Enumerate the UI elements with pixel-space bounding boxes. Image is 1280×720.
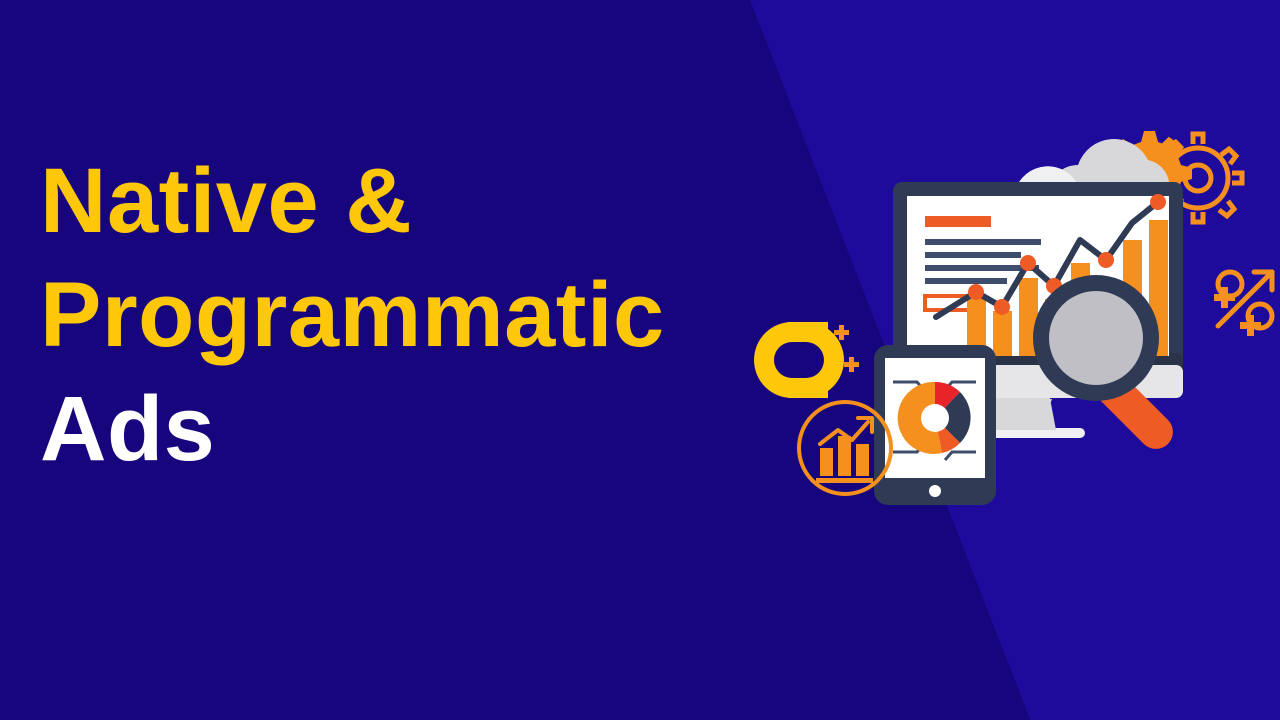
headline-line-2: Programmatic: [40, 269, 900, 361]
page-title: Native & Programmatic Ads: [40, 155, 900, 475]
promo-banner: Native & Programmatic Ads: [0, 0, 1280, 720]
headline-line-1: Native &: [40, 155, 900, 247]
headline-line-3: Ads: [40, 383, 900, 475]
